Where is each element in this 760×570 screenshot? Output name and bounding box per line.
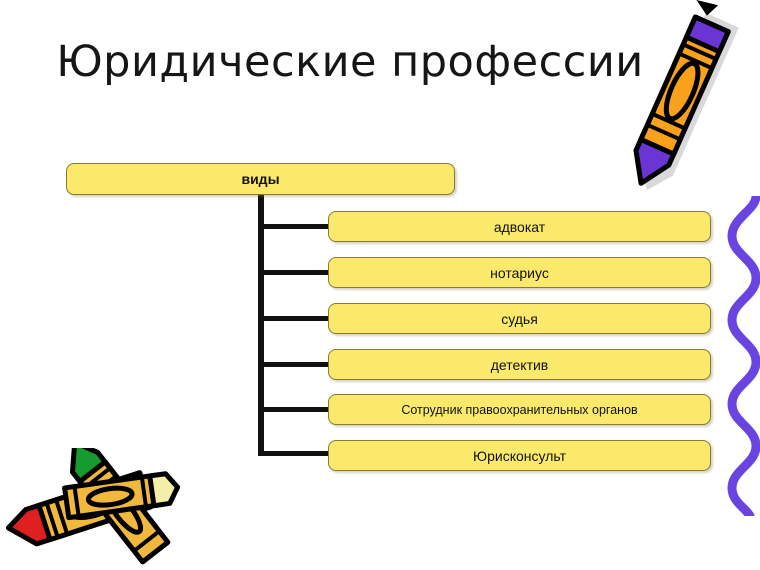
diagram-node-child[interactable]: нотариус (328, 257, 711, 288)
connector-branch (258, 451, 330, 456)
connector-branch (258, 224, 330, 229)
diagram-node-root[interactable]: виды (66, 163, 455, 195)
diagram-node-label: Сотрудник правоохранительных органов (401, 403, 637, 417)
diagram-node-label: детектив (491, 357, 548, 373)
diagram-node-child[interactable]: судья (328, 303, 711, 334)
connector-trunk (258, 195, 264, 456)
connector-branch (258, 270, 330, 275)
diagram-node-child[interactable]: адвокат (328, 211, 711, 242)
diagram-node-label: виды (241, 171, 279, 187)
slide-canvas: Юридические профессии виды адвокат нотар… (0, 0, 760, 570)
connector-branch (258, 407, 330, 412)
diagram-node-label: судья (501, 311, 538, 327)
connector-branch (258, 362, 330, 367)
diagram-node-label: Юрисконсульт (473, 448, 566, 464)
diagram-node-child[interactable]: детектив (328, 349, 711, 380)
org-chart-diagram: виды адвокат нотариус судья детектив Сот… (0, 0, 760, 570)
diagram-node-label: нотариус (490, 265, 549, 281)
connector-branch (258, 316, 330, 321)
diagram-node-label: адвокат (494, 219, 545, 235)
diagram-node-child[interactable]: Юрисконсульт (328, 440, 711, 471)
diagram-node-child[interactable]: Сотрудник правоохранительных органов (328, 394, 711, 425)
